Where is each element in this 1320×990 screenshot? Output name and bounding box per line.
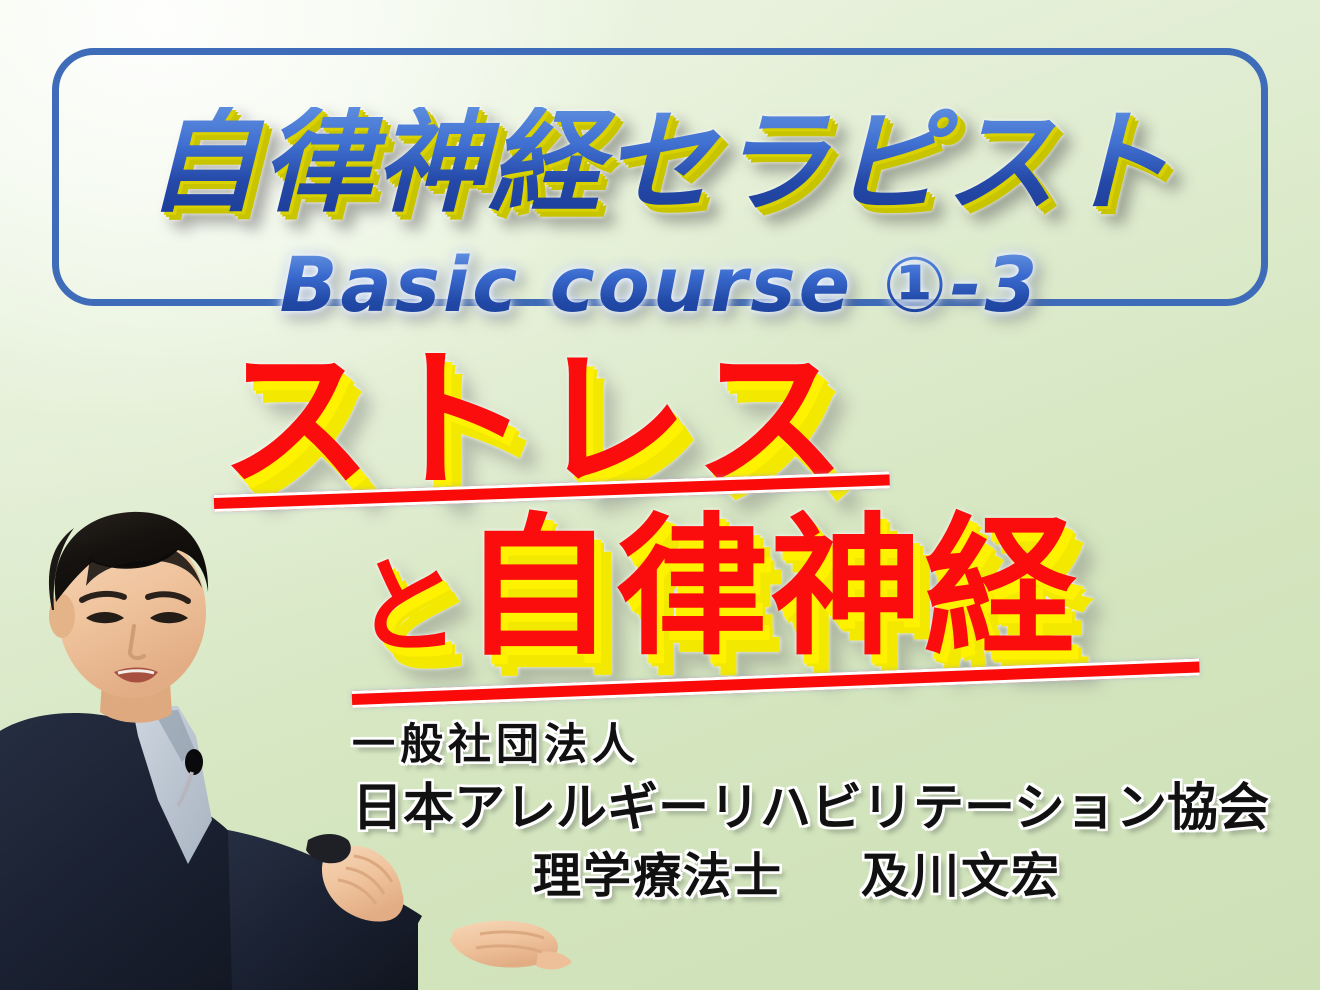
presenter-credit: 理学療法士及川文宏 [352,852,1252,900]
headline-line2-main: 自律神経 [462,499,1078,676]
sub-title: Basic course ①-3 [59,247,1261,323]
lapel-mic-icon [185,749,203,775]
headline-line1: ストレス [220,345,852,497]
org-name: 日本アレルギーリハビリテーション協会 [352,783,1252,834]
title-box: 自律神経セラピスト 自律神経セラピスト Basic course ①-3 Bas… [52,48,1268,306]
main-title: 自律神経セラピスト [59,107,1261,219]
headline-line2: と自律神経 [355,512,1078,664]
person-title: 理学療法士 [533,848,783,904]
slide-root: 自律神経セラピスト 自律神経セラピスト Basic course ①-3 Bas… [0,0,1320,990]
org-type: 一般社団法人 [352,724,1252,767]
headline-line2-prefix: と [355,555,462,664]
thumb-right [536,951,572,969]
person-name: 及川文宏 [861,848,1061,904]
footer-credits: 一般社団法人 日本アレルギーリハビリテーション協会 理学療法士及川文宏 [352,724,1252,900]
